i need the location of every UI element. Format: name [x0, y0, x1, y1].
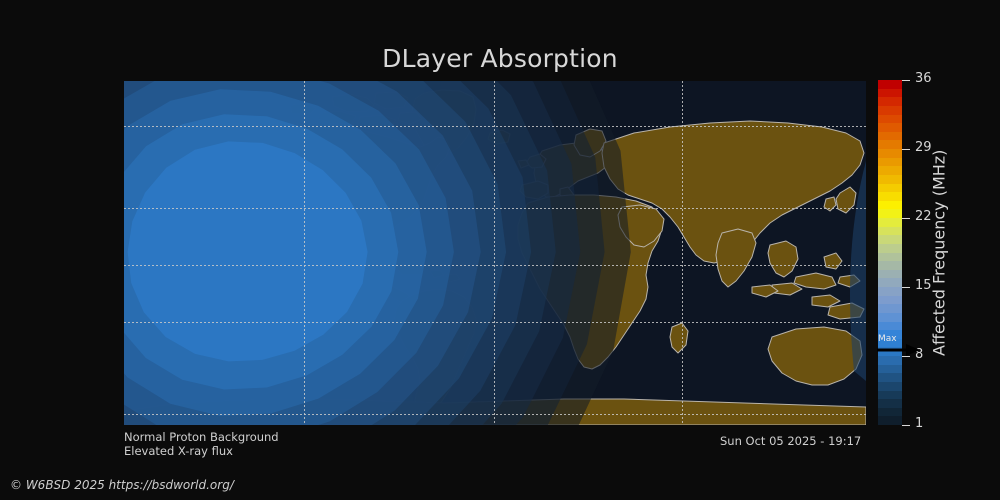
colorbar-segment: [878, 89, 902, 98]
colorbar-segment: [878, 244, 902, 253]
colorbar-segment: [878, 391, 902, 400]
colorbar-tick-label: 8: [915, 347, 923, 362]
colorbar-segment: [878, 106, 902, 115]
colorbar-segment: [878, 253, 902, 262]
colorbar-segment: [878, 287, 902, 296]
colorbar-segment: [878, 201, 902, 210]
colorbar-segment: [878, 184, 902, 193]
colorbar-segment: [878, 192, 902, 201]
colorbar-segment: [878, 408, 902, 417]
colorbar-segment: [878, 365, 902, 374]
colorbar-segment: [878, 149, 902, 158]
colorbar-segment: [878, 97, 902, 106]
colorbar-tick-dash: [902, 80, 910, 81]
xray-status-text: Elevated X-ray flux: [124, 444, 233, 458]
colorbar-segment: [878, 347, 902, 356]
colorbar-segment: [878, 270, 902, 279]
page-title: DLayer Absorption: [0, 44, 1000, 73]
colorbar-segment: [878, 227, 902, 236]
colorbar-segment: [878, 416, 902, 425]
proton-status-text: Normal Proton Background: [124, 430, 279, 444]
timestamp-text: Sun Oct 05 2025 - 19:17: [720, 434, 861, 448]
copyright-text: © W6BSD 2025 https://bsdworld.org/: [10, 478, 234, 492]
colorbar-segment: [878, 80, 902, 89]
colorbar[interactable]: [878, 80, 902, 425]
colorbar-segment: [878, 339, 902, 348]
colorbar-segment: [878, 356, 902, 365]
colorbar-segment: [878, 132, 902, 141]
map-graphic: [124, 81, 866, 425]
colorbar-segment: [878, 166, 902, 175]
colorbar-tick-dash: [902, 356, 910, 357]
colorbar-segment: [878, 313, 902, 322]
colorbar-segment: [878, 399, 902, 408]
colorbar-segment: [878, 209, 902, 218]
colorbar-segment: [878, 115, 902, 124]
colorbar-segment: [878, 235, 902, 244]
colorbar-segment: [878, 304, 902, 313]
colorbar-segment: [878, 373, 902, 382]
colorbar-segment: [878, 382, 902, 391]
colorbar-segment: [878, 278, 902, 287]
colorbar-segment: [878, 261, 902, 270]
world-absorption-map[interactable]: [124, 81, 866, 425]
colorbar-segment: [878, 322, 902, 331]
colorbar-segment: [878, 140, 902, 149]
colorbar-tick-dash: [902, 218, 910, 219]
colorbar-axis-label: Affected Frequency (MHz): [928, 80, 950, 425]
colorbar-segment: [878, 218, 902, 227]
colorbar-segment: [878, 158, 902, 167]
colorbar-tick-dash: [902, 149, 910, 150]
colorbar-segment: [878, 123, 902, 132]
colorbar-tick-label: 1: [915, 416, 923, 431]
colorbar-tick-dash: [902, 287, 910, 288]
dlayer-absorption-screen: DLayer Absorption: [0, 0, 1000, 500]
colorbar-segment: [878, 330, 902, 339]
colorbar-tick-dash: [902, 425, 910, 426]
colorbar-segment: [878, 296, 902, 305]
colorbar-segment: [878, 175, 902, 184]
